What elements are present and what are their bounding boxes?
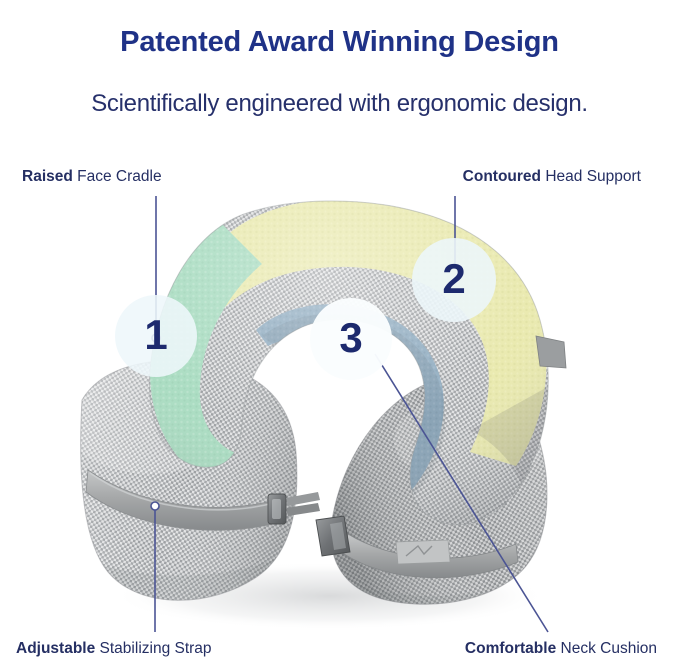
callout-contoured-head-support-light: Head Support xyxy=(541,168,641,185)
callout-contoured-head-support: Contoured Head Support xyxy=(463,167,641,187)
badge-1: 1 xyxy=(115,295,197,377)
callout-raised-face-cradle: Raised Face Cradle xyxy=(22,167,162,187)
leader-dot-4 xyxy=(151,502,159,510)
badge-3-number: 3 xyxy=(339,317,362,359)
badge-1-number: 1 xyxy=(144,314,167,356)
badge-2: 2 xyxy=(412,238,496,322)
callout-raised-face-cradle-strong: Raised xyxy=(22,168,73,185)
callout-adjustable-stabilizing-strap: Adjustable Stabilizing Strap xyxy=(16,639,212,659)
callout-adjustable-stabilizing-strap-light: Stabilizing Strap xyxy=(95,640,211,657)
side-tab xyxy=(536,336,566,368)
callout-adjustable-stabilizing-strap-strong: Adjustable xyxy=(16,640,95,657)
brand-label-patch xyxy=(396,540,450,564)
right-strap-buckle xyxy=(316,516,350,556)
badge-3: 3 xyxy=(310,298,392,380)
callout-raised-face-cradle-light: Face Cradle xyxy=(73,168,162,185)
infographic-page: Patented Award Winning Design Scientific… xyxy=(0,0,679,668)
badge-2-number: 2 xyxy=(442,258,465,300)
left-strap-buckle xyxy=(268,494,286,524)
callout-comfortable-neck-cushion-strong: Comfortable xyxy=(465,640,556,657)
callout-comfortable-neck-cushion: Comfortable Neck Cushion xyxy=(465,639,657,659)
callout-comfortable-neck-cushion-light: Neck Cushion xyxy=(556,640,657,657)
callout-contoured-head-support-strong: Contoured xyxy=(463,168,541,185)
